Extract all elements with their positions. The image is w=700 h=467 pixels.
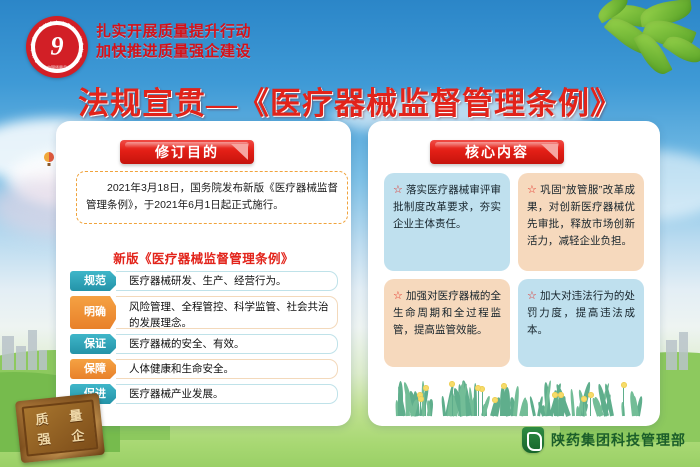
list-item: 明确 风险管理、全程管控、科学监管、社会共治的发展理念。 <box>70 296 338 329</box>
flower-icon <box>588 392 594 398</box>
star-icon: ☆ <box>527 184 537 196</box>
banner-revision-purpose: 修订目的 <box>120 140 254 164</box>
revision-note-box: 2021年3月18日，国务院发布新版《医疗器械监督管理条例》，于2021年6月1… <box>76 171 348 224</box>
banner-core-content: 核心内容 <box>430 140 564 164</box>
row-tag: 规范 <box>70 271 120 291</box>
slogan-line-1: 扎实开展质量提升行动 <box>96 22 251 42</box>
wooden-seal-decoration: 质量强企 <box>15 393 105 463</box>
banner-label: 修订目的 <box>155 144 219 160</box>
footer-text: 陕药集团科技管理部 <box>551 430 686 450</box>
flower-icon <box>552 392 558 398</box>
row-text: 医疗器械的安全、有效。 <box>116 334 338 354</box>
ribbon-fold <box>541 144 558 160</box>
row-tag: 保障 <box>70 359 120 379</box>
panel-core-content: 核心内容 ☆落实医疗器械审评审批制度改革要求，夯实企业主体责任。 ☆巩固“放管服… <box>368 121 660 426</box>
stamp-char: 强 <box>26 428 62 451</box>
core-content-card: ☆落实医疗器械审评审批制度改革要求，夯实企业主体责任。 <box>384 173 510 271</box>
card-text: 巩固“放管服”改革成果，对创新医疗器械优先审批，释放市场创新活力，减轻企业负担。 <box>527 184 635 247</box>
core-content-card: ☆巩固“放管服”改革成果，对创新医疗器械优先审批，释放市场创新活力，减轻企业负担… <box>518 173 644 271</box>
seal-bottom-text: 中国质量月 <box>26 65 88 71</box>
header-slogan: 扎实开展质量提升行动 加快推进质量强企建设 <box>96 22 251 62</box>
card-text: 加大对违法行为的处罚力度，提高违法成本。 <box>527 290 635 336</box>
flower-icon <box>449 381 455 387</box>
grass-with-flowers-decor <box>392 376 636 416</box>
row-text: 医疗器械产业发展。 <box>116 384 338 404</box>
shaanxi-pharma-group-logo-icon <box>522 427 544 453</box>
row-tag: 明确 <box>70 296 120 329</box>
row-tag: 保证 <box>70 334 120 354</box>
china-quality-month-seal-icon: CHINA QUALITY MONTH 9 中国质量月 <box>26 16 88 78</box>
flower-icon <box>501 383 507 389</box>
row-text: 人体健康和生命安全。 <box>116 359 338 379</box>
ribbon-fold <box>231 144 248 160</box>
hot-air-balloon-icon <box>44 152 54 167</box>
star-icon: ☆ <box>527 290 537 302</box>
seal-numeral: 9 <box>26 33 88 59</box>
list-item: 保障 人体健康和生命安全。 <box>70 359 338 379</box>
list-item: 保证 医疗器械的安全、有效。 <box>70 334 338 354</box>
revision-note-text: 2021年3月18日，国务院发布新版《医疗器械监督管理条例》，于2021年6月1… <box>86 180 338 214</box>
footer: 陕药集团科技管理部 <box>522 427 686 453</box>
grass-blade <box>570 389 575 416</box>
star-icon: ☆ <box>393 290 403 302</box>
poster-canvas: CHINA QUALITY MONTH 9 中国质量月 扎实开展质量提升行动 加… <box>0 0 700 467</box>
stamp-char: 企 <box>60 424 96 447</box>
row-text: 风险管理、全程管控、科学监管、社会共治的发展理念。 <box>116 296 338 329</box>
core-content-card: ☆加大对违法行为的处罚力度，提高违法成本。 <box>518 279 644 367</box>
list-item: 规范 医疗器械研发、生产、经营行为。 <box>70 271 338 291</box>
grass-blade <box>513 386 519 416</box>
page-title: 法规宣贯—《医疗器械监督管理条例》 <box>0 78 700 123</box>
flower-icon <box>418 396 424 402</box>
banner-label: 核心内容 <box>465 144 529 160</box>
panel-revision-purpose: 修订目的 2021年3月18日，国务院发布新版《医疗器械监督管理条例》，于202… <box>56 121 351 426</box>
flower-icon <box>423 385 429 391</box>
flower-icon <box>621 382 627 388</box>
slogan-line-2: 加快推进质量强企建设 <box>96 42 251 62</box>
star-icon: ☆ <box>393 184 403 196</box>
row-text: 医疗器械研发、生产、经营行为。 <box>116 271 338 291</box>
card-text: 落实医疗器械审评审批制度改革要求，夯实企业主体责任。 <box>393 184 501 230</box>
core-content-card: ☆加强对医疗器械的全生命周期和全过程监管，提高监管效能。 <box>384 279 510 367</box>
subheading-new-regulation: 新版《医疗器械监督管理条例》 <box>56 248 351 267</box>
list-item: 促进 医疗器械产业发展。 <box>70 384 338 404</box>
card-text: 加强对医疗器械的全生命周期和全过程监管，提高监管效能。 <box>393 290 501 336</box>
grass-blade <box>529 396 536 416</box>
